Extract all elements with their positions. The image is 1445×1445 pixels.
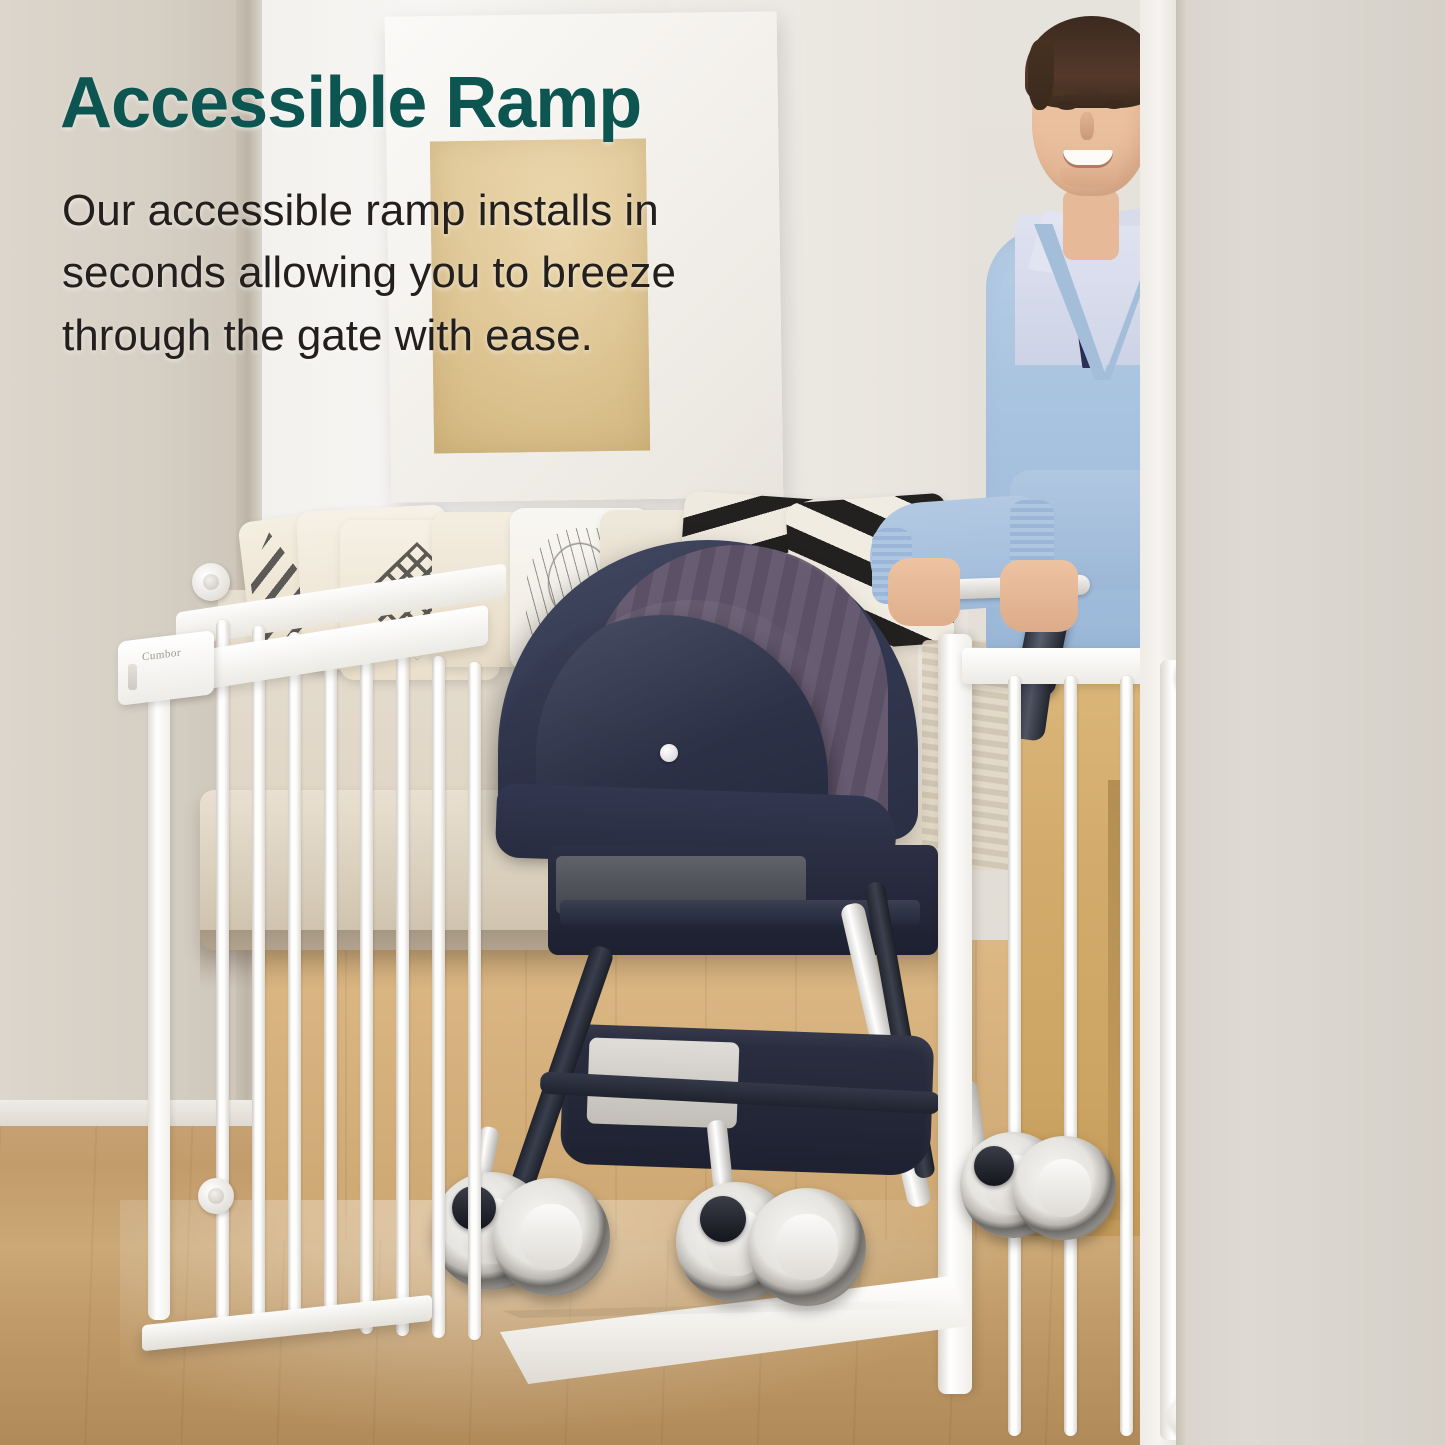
gate-bar xyxy=(1120,676,1133,1436)
gate-bar xyxy=(1064,676,1077,1436)
man-eye xyxy=(1104,100,1124,109)
description-text: Our accessible ramp installs in seconds … xyxy=(62,180,852,367)
man-smile xyxy=(1063,150,1113,168)
man-neck xyxy=(1063,190,1119,260)
gate-bar xyxy=(288,632,301,1328)
product-marketing-image: Cumbor Accessible Ramp Our accessible ra… xyxy=(0,0,1445,1445)
stroller-wheel xyxy=(1012,1136,1116,1240)
gate-wall-cup-mount[interactable] xyxy=(198,1178,234,1214)
stroller-wheel xyxy=(748,1188,866,1306)
man-chin xyxy=(1060,168,1118,188)
gate-bar xyxy=(1008,676,1021,1436)
gate-bar xyxy=(252,626,265,1324)
gate-bar xyxy=(360,644,373,1334)
gate-bar xyxy=(216,620,229,1320)
description-line-3: through the gate with ease. xyxy=(62,305,852,367)
gate-bar xyxy=(324,638,337,1332)
page-title: Accessible Ramp xyxy=(60,62,641,144)
gate-bar xyxy=(396,650,409,1336)
stroller-wheel-hub xyxy=(974,1146,1014,1186)
man-sideburn xyxy=(1028,40,1054,110)
gate-wall-cup-mount[interactable] xyxy=(192,563,230,601)
gate-latch-slot[interactable] xyxy=(128,664,137,690)
stroller-wheel-hub xyxy=(700,1196,746,1242)
description-line-1: Our accessible ramp installs in xyxy=(62,180,852,242)
foreground-wall-edge xyxy=(1176,0,1188,1445)
stroller-canopy-button xyxy=(660,744,678,762)
description-line-2: seconds allowing you to breeze xyxy=(62,242,852,304)
gate-hinge-post[interactable] xyxy=(148,690,170,1320)
foreground-wall xyxy=(1182,0,1445,1445)
man-left-hand xyxy=(888,558,960,626)
gate-bar xyxy=(468,662,481,1340)
man-right-hand xyxy=(1000,560,1078,632)
stroller-wheel xyxy=(492,1178,610,1296)
gate-bar xyxy=(432,656,445,1338)
man-eye xyxy=(1057,101,1077,110)
man-nose xyxy=(1080,112,1094,140)
